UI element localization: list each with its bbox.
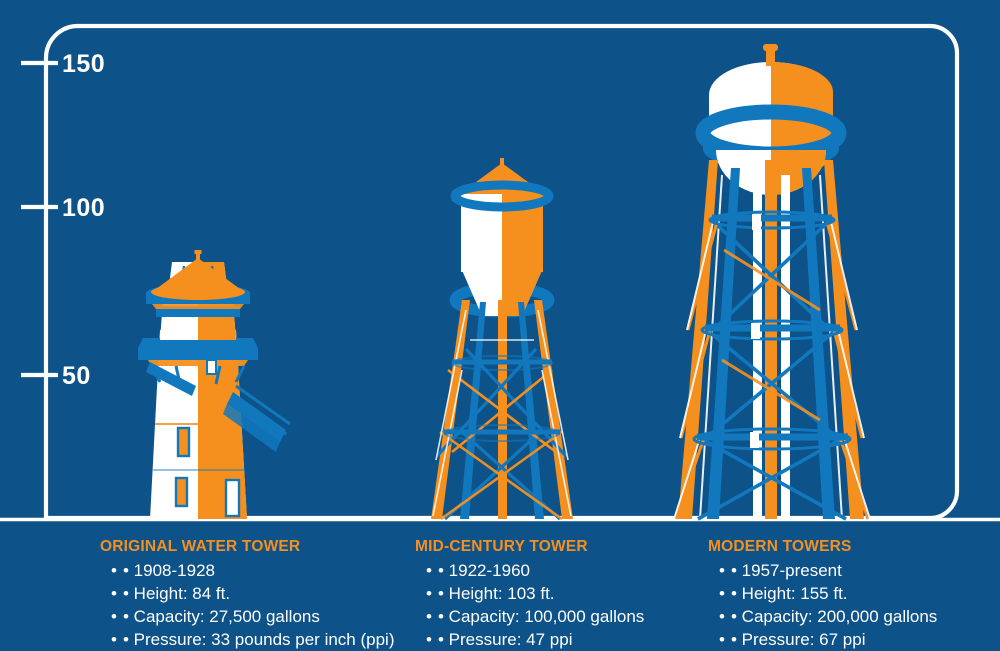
caption-height-original: • Height: 84 ft.	[114, 582, 400, 605]
caption-pressure-midcentury: • Pressure: 47 ppi	[429, 628, 715, 651]
caption-modern-towers: MODERN TOWERS • 1957-present • Height: 1…	[708, 538, 1000, 651]
infographic-stage: 150 100 50 ORIGINAL WATER TOWER • 1908-1…	[0, 0, 1000, 646]
caption-list-modern: • 1957-present • Height: 155 ft. • Capac…	[708, 559, 1000, 651]
axis-label-100: 100	[62, 194, 105, 223]
caption-pressure-original: • Pressure: 33 pounds per inch (ppi)	[114, 628, 400, 651]
caption-years-original: • 1908-1928	[114, 559, 400, 582]
tower-original-water-tower	[138, 250, 290, 519]
axis-ticks	[21, 63, 58, 375]
caption-title-original: ORIGINAL WATER TOWER	[100, 538, 400, 556]
caption-capacity-modern: • Capacity: 200,000 gallons	[722, 605, 1000, 628]
tower-mid-century-tower	[431, 158, 573, 519]
caption-pressure-modern: • Pressure: 67 ppi	[722, 628, 1000, 651]
axis-label-50: 50	[62, 362, 91, 391]
caption-title-midcentury: MID-CENTURY TOWER	[415, 538, 715, 556]
caption-years-midcentury: • 1922-1960	[429, 559, 715, 582]
caption-list-midcentury: • 1922-1960 • Height: 103 ft. • Capacity…	[415, 559, 715, 651]
caption-title-modern: MODERN TOWERS	[708, 538, 1000, 556]
axis-label-150: 150	[62, 50, 105, 79]
caption-height-midcentury: • Height: 103 ft.	[429, 582, 715, 605]
caption-capacity-original: • Capacity: 27,500 gallons	[114, 605, 400, 628]
caption-list-original: • 1908-1928 • Height: 84 ft. • Capacity:…	[100, 559, 400, 651]
caption-height-modern: • Height: 155 ft.	[722, 582, 1000, 605]
caption-capacity-midcentury: • Capacity: 100,000 gallons	[429, 605, 715, 628]
caption-original-water-tower: ORIGINAL WATER TOWER • 1908-1928 • Heigh…	[100, 538, 400, 651]
caption-mid-century-tower: MID-CENTURY TOWER • 1922-1960 • Height: …	[415, 538, 715, 651]
tower-modern-towers	[674, 44, 870, 519]
caption-years-modern: • 1957-present	[722, 559, 1000, 582]
